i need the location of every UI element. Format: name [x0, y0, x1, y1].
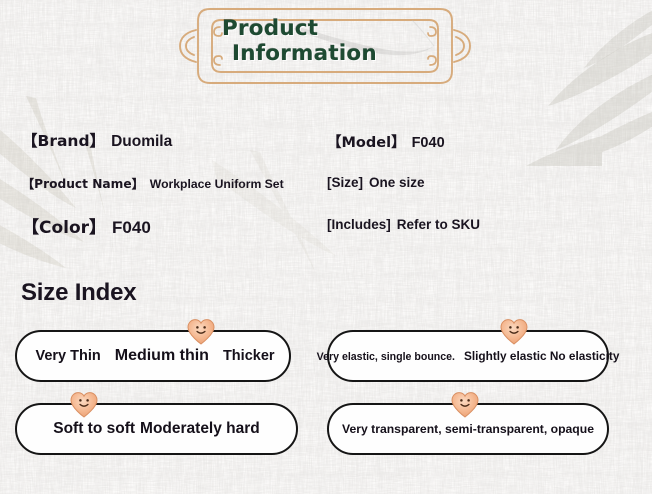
info-row-includes: [Includes]Refer to SKU [327, 217, 480, 232]
info-row-model: 【Model】F040 [327, 131, 445, 152]
product-information-page: Product Information 【Brand】Duomila 【Prod… [0, 0, 652, 494]
scale-elasticity: Very elastic, single bounce. Slightly el… [327, 330, 609, 382]
includes-label: [Includes] [327, 217, 391, 232]
page-title-line1: Product [222, 16, 318, 41]
scale-thickness: Very Thin Medium thin Thicker [15, 330, 291, 382]
page-title-line2: Information [222, 41, 452, 66]
scale-elasticity-segment-0: Very elastic, single bounce. [317, 351, 455, 363]
info-row-size: [Size]One size [327, 175, 425, 190]
product-name-label: 【Product Name】 [22, 177, 144, 191]
scale-softness-segment-0: Soft to soft [53, 420, 135, 438]
scale-transparency-segment-0: Very transparent, semi-transparent, opaq… [342, 422, 594, 436]
size-label: [Size] [327, 175, 363, 190]
info-row-color: 【Color】F040 [22, 213, 151, 238]
model-label: 【Model】 [327, 135, 406, 151]
scale-elasticity-segment-1: Slightly elastic No elasticity [464, 349, 619, 363]
bamboo-leaf-decoration-left [0, 96, 216, 296]
scale-transparency: Very transparent, semi-transparent, opaq… [327, 403, 609, 455]
scale-thickness-segment-0: Very Thin [35, 348, 100, 364]
brand-value: Duomila [111, 133, 172, 150]
size-value: One size [369, 175, 425, 190]
scale-thickness-segment-1: Medium thin [115, 347, 209, 365]
size-index-heading: Size Index [21, 279, 136, 307]
info-row-brand: 【Brand】Duomila [22, 129, 172, 151]
model-value: F040 [412, 135, 445, 151]
product-name-value: Workplace Uniform Set [150, 177, 284, 191]
brand-label: 【Brand】 [22, 132, 105, 150]
color-value: F040 [112, 218, 151, 237]
scale-softness: Soft to soft Moderately hard [15, 403, 298, 455]
scale-thickness-segment-2: Thicker [223, 348, 275, 364]
includes-value: Refer to SKU [397, 217, 480, 232]
bamboo-leaf-decoration-top-right [452, 0, 652, 166]
page-title: Product Information [222, 16, 452, 66]
page-title-banner: Product Information [174, 4, 476, 88]
info-row-product-name: 【Product Name】Workplace Uniform Set [22, 174, 284, 192]
color-label: 【Color】 [22, 218, 106, 238]
scale-softness-segment-1: Moderately hard [140, 420, 260, 438]
